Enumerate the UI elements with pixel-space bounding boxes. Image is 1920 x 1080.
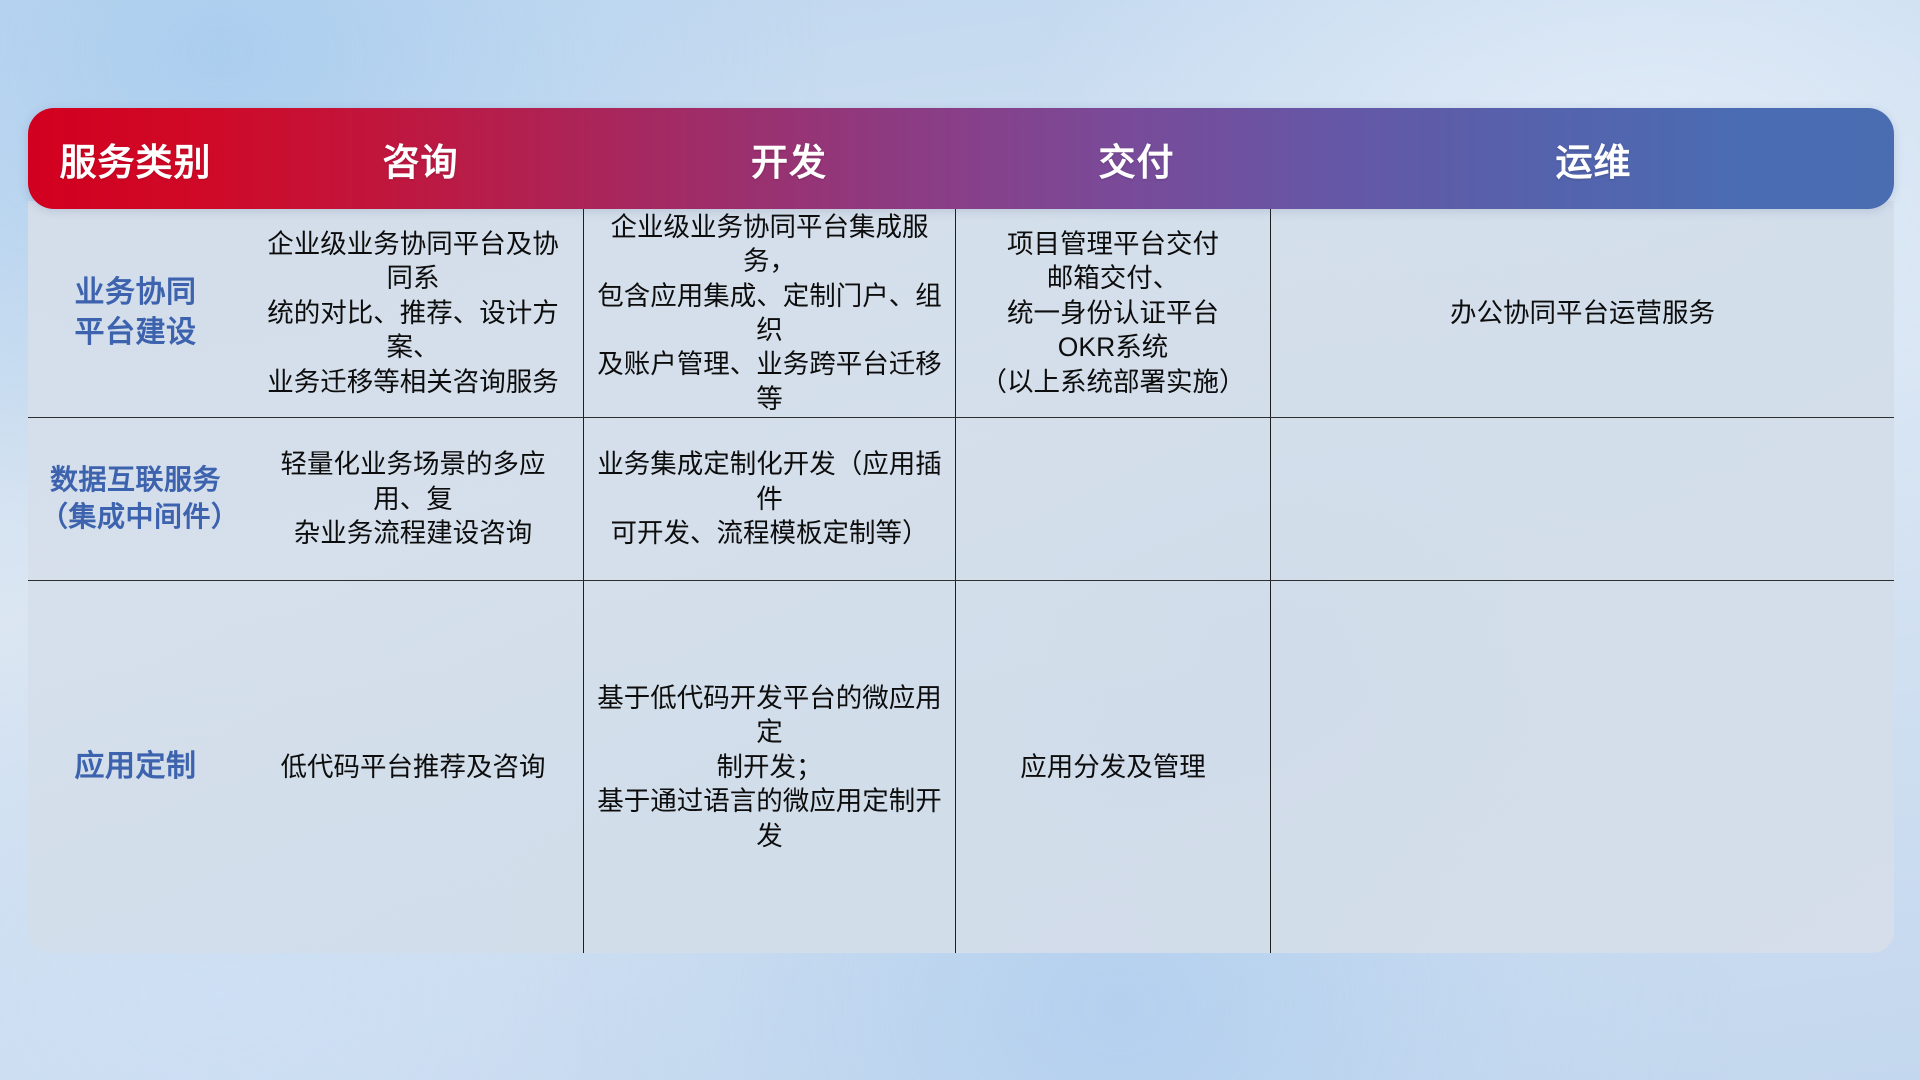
cell-deliver [955, 418, 1270, 580]
table-row: 业务协同 平台建设 企业级业务协同平台及协同系 统的对比、推荐、设计方案、 业务… [28, 209, 1894, 417]
cell-operate [1270, 581, 1894, 953]
cell-consult: 企业级业务协同平台及协同系 统的对比、推荐、设计方案、 业务迁移等相关咨询服务 [243, 209, 583, 417]
row-category-cell: 数据互联服务 （集成中间件） [28, 418, 243, 580]
cell-operate: 办公协同平台运营服务 [1270, 209, 1894, 417]
column-header-develop: 开发 [598, 132, 980, 186]
row-category-cell: 业务协同 平台建设 [28, 209, 243, 417]
cell-operate-text: 办公协同平台运营服务 [1450, 296, 1715, 330]
column-header-deliver: 交付 [980, 132, 1293, 186]
cell-deliver: 应用分发及管理 [955, 581, 1270, 953]
row-category-label: 数据互联服务 （集成中间件） [40, 462, 231, 536]
cell-consult: 低代码平台推荐及咨询 [243, 581, 583, 953]
cell-deliver: 项目管理平台交付 邮箱交付、 统一身份认证平台 OKR系统 （以上系统部署实施） [955, 209, 1270, 417]
cell-consult: 轻量化业务场景的多应用、复 杂业务流程建设咨询 [243, 418, 583, 580]
table-header-row: 服务类别 咨询 开发 交付 运维 [28, 108, 1894, 209]
cell-consult-text: 轻量化业务场景的多应用、复 杂业务流程建设咨询 [255, 447, 571, 550]
column-header-category: 服务类别 [28, 132, 243, 186]
table-row: 应用定制 低代码平台推荐及咨询 基于低代码开发平台的微应用定 制开发； 基于通过… [28, 580, 1894, 953]
column-header-consult: 咨询 [243, 132, 598, 186]
cell-develop: 基于低代码开发平台的微应用定 制开发； 基于通过语言的微应用定制开发 [583, 581, 955, 953]
cell-deliver-text: 应用分发及管理 [1020, 750, 1206, 784]
table-row: 数据互联服务 （集成中间件） 轻量化业务场景的多应用、复 杂业务流程建设咨询 业… [28, 417, 1894, 580]
row-category-label: 业务协同 平台建设 [75, 273, 197, 352]
cell-develop-text: 基于低代码开发平台的微应用定 制开发； 基于通过语言的微应用定制开发 [596, 681, 943, 853]
cell-operate [1270, 418, 1894, 580]
row-category-label: 应用定制 [75, 747, 197, 787]
cell-consult-text: 低代码平台推荐及咨询 [281, 750, 546, 784]
cell-develop: 企业级业务协同平台集成服务， 包含应用集成、定制门户、组织 及账户管理、业务跨平… [583, 209, 955, 417]
cell-develop-text: 企业级业务协同平台集成服务， 包含应用集成、定制门户、组织 及账户管理、业务跨平… [596, 210, 943, 417]
cell-develop: 业务集成定制化开发（应用插件 可开发、流程模板定制等） [583, 418, 955, 580]
column-header-operate: 运维 [1293, 132, 1894, 186]
row-category-cell: 应用定制 [28, 581, 243, 953]
table-body: 业务协同 平台建设 企业级业务协同平台及协同系 统的对比、推荐、设计方案、 业务… [28, 201, 1894, 953]
cell-develop-text: 业务集成定制化开发（应用插件 可开发、流程模板定制等） [596, 447, 943, 550]
cell-consult-text: 企业级业务协同平台及协同系 统的对比、推荐、设计方案、 业务迁移等相关咨询服务 [255, 227, 571, 399]
service-matrix-table: 服务类别 咨询 开发 交付 运维 业务协同 平台建设 企业级业务协同平台及协同系… [28, 108, 1894, 953]
cell-deliver-text: 项目管理平台交付 邮箱交付、 统一身份认证平台 OKR系统 （以上系统部署实施） [981, 227, 1246, 399]
